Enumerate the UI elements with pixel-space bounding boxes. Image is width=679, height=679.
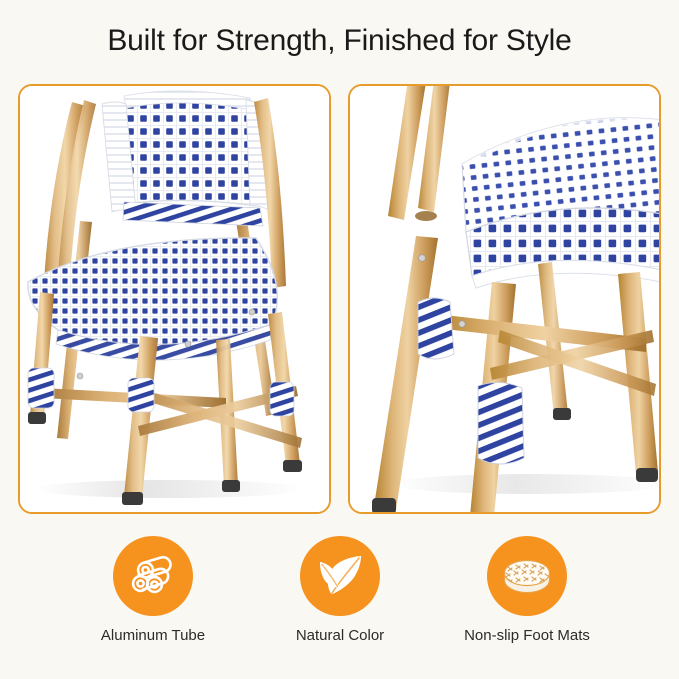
feature-badge	[113, 536, 193, 616]
feature-label: Non-slip Foot Mats	[464, 627, 590, 644]
feature-badge	[487, 536, 567, 616]
feature-badge	[300, 536, 380, 616]
page-title: Built for Strength, Finished for Style	[0, 22, 679, 60]
feature-label: Aluminum Tube	[101, 627, 205, 644]
chair-illustration-right	[350, 86, 659, 512]
foot-mat-icon	[498, 547, 556, 605]
feature-label: Natural Color	[296, 627, 384, 644]
feature-natural-color: Natural Color	[247, 536, 433, 656]
feature-non-slip-foot-mats: Non-slip Foot Mats	[434, 536, 620, 656]
chair-illustration-left	[20, 86, 329, 512]
feature-aluminum-tube: Aluminum Tube	[60, 536, 246, 656]
panel-chair-seat-closeup	[348, 84, 661, 514]
product-image-panels	[18, 84, 662, 514]
chair-rear-three-quarter-view	[20, 86, 329, 512]
panel-chair-rear-view	[18, 84, 331, 514]
feature-list: Aluminum Tube Natural Color	[60, 536, 620, 656]
chair-seat-and-legs-closeup	[350, 86, 659, 512]
aluminum-tube-icon	[125, 548, 181, 604]
leaf-icon	[314, 550, 366, 602]
